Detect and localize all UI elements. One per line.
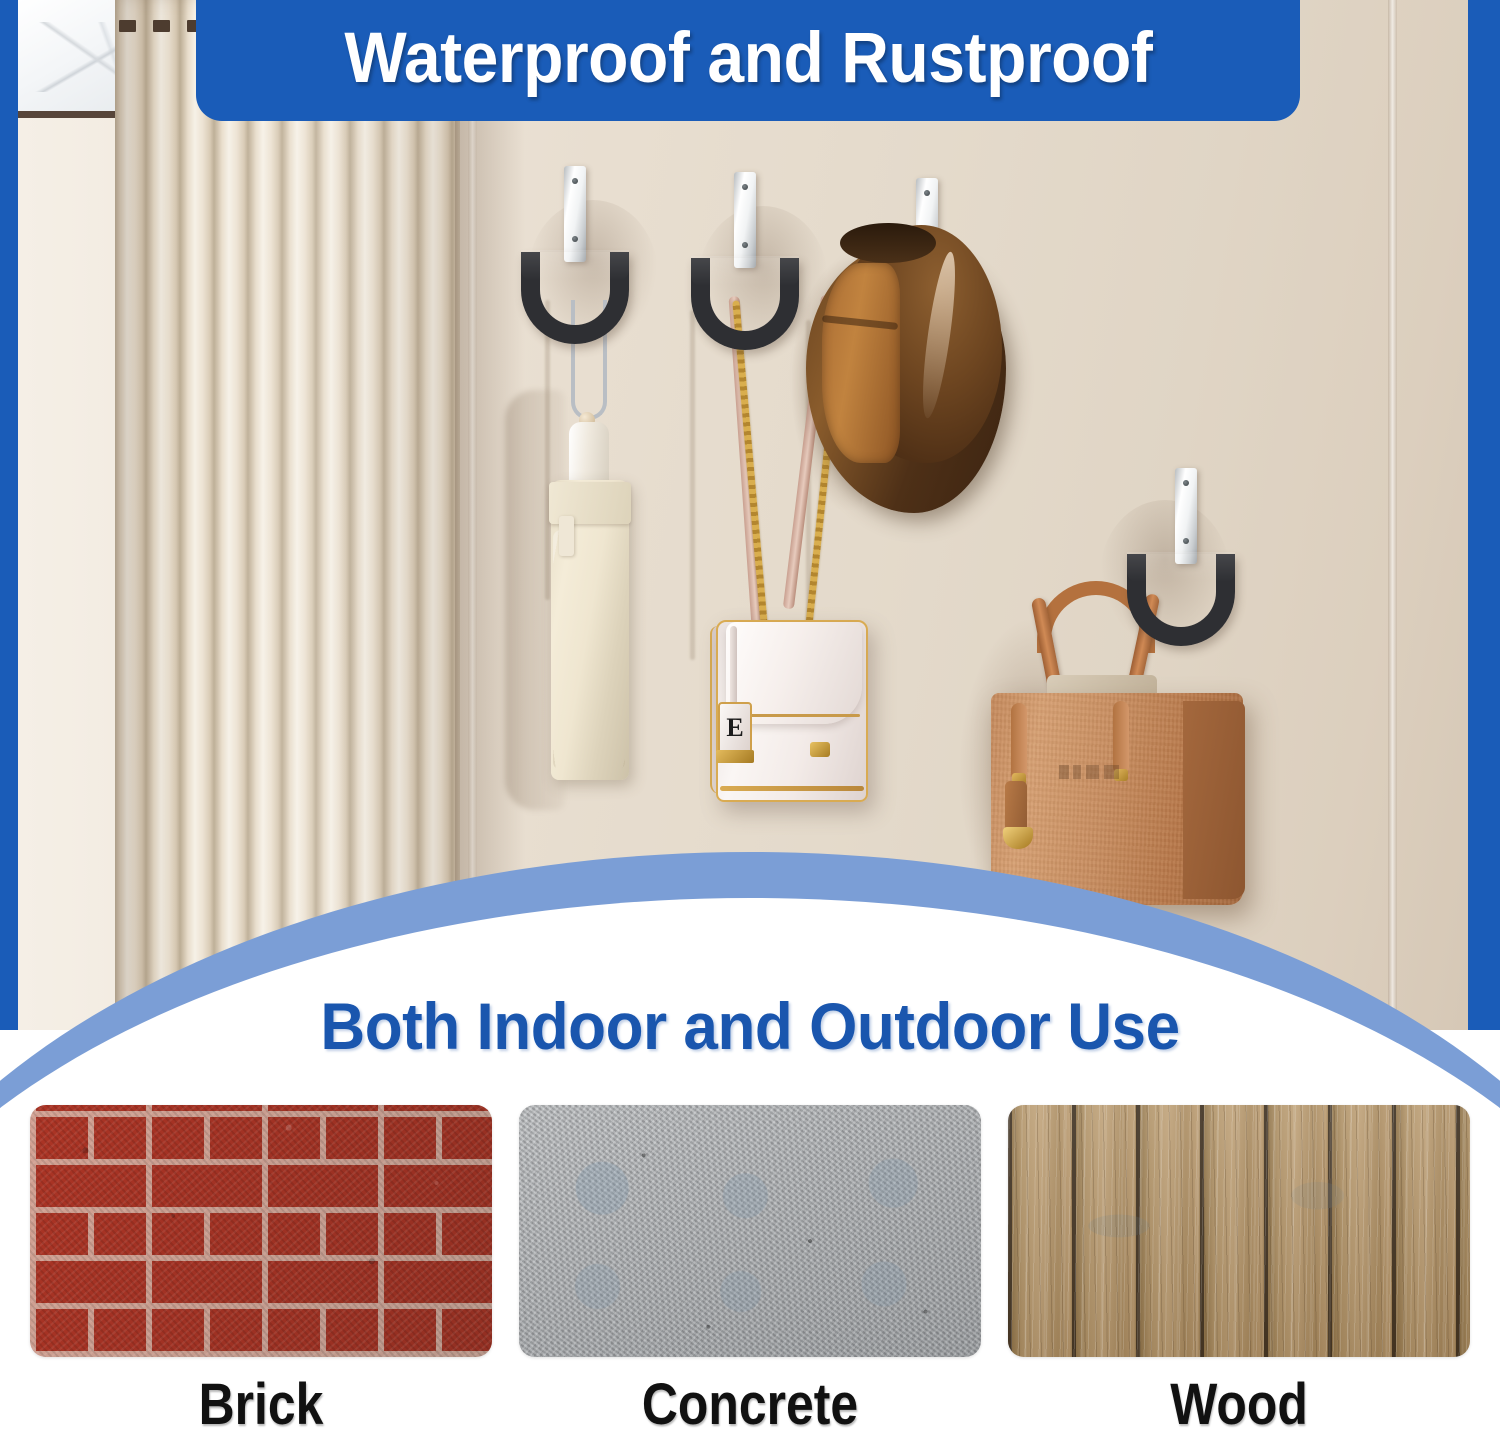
brown-fedora-hat: [800, 215, 1020, 515]
hook-mounting-plate: [734, 172, 756, 268]
material-swatch-row: Brick Concrete Wood: [0, 1105, 1500, 1445]
screw-icon: [1183, 538, 1189, 544]
concrete-swatch-image: [519, 1105, 981, 1357]
bag-bottom-trim: [720, 786, 864, 791]
section-subtitle: Both Indoor and Outdoor Use: [45, 988, 1455, 1064]
hat-band: [822, 263, 900, 463]
screw-icon: [742, 242, 748, 248]
wood-swatch-image: [1008, 1105, 1470, 1357]
concrete-label: Concrete: [551, 1371, 948, 1438]
screw-icon: [742, 184, 748, 190]
tote-strap-tab: [1011, 703, 1027, 781]
hook-u-curve: [691, 258, 799, 350]
material-card-wood: Wood: [1008, 1105, 1470, 1445]
wall-panel-seam: [1388, 0, 1397, 1030]
vertical-blinds: [115, 0, 460, 1030]
material-card-brick: Brick: [30, 1105, 492, 1445]
bag-clasp: [810, 742, 830, 757]
umbrella-velcro-tab: [559, 516, 574, 556]
charm-letter: E: [726, 715, 743, 741]
headline-banner: Waterproof and Rustproof: [196, 0, 1300, 121]
hook-mounting-plate: [1175, 468, 1197, 564]
tote-strap-tab: [1113, 701, 1129, 775]
photo-border-left: [0, 0, 18, 1030]
bag-charm-base: [716, 750, 754, 763]
brick-swatch-image: [30, 1105, 492, 1357]
wood-label: Wood: [1040, 1371, 1437, 1438]
umbrella-fabric-folds: [553, 530, 625, 770]
bag-charm-strap: [730, 626, 737, 710]
bag-letter-charm: E: [718, 702, 752, 754]
tote-logo: [1059, 765, 1129, 779]
hook-u-curve: [521, 252, 629, 344]
wall-hook-1[interactable]: [520, 166, 630, 356]
material-card-concrete: Concrete: [519, 1105, 981, 1445]
screw-icon: [572, 178, 578, 184]
wall-panel-seam: [468, 0, 477, 1030]
photo-border-right: [1468, 0, 1500, 1030]
product-feature-image: E: [0, 0, 1500, 1445]
materials-section: Both Indoor and Outdoor Use Brick Concre…: [0, 940, 1500, 1445]
screw-icon: [924, 190, 930, 196]
brick-label: Brick: [62, 1371, 459, 1438]
screw-icon: [572, 236, 578, 242]
wall-hook-4[interactable]: [1095, 468, 1205, 658]
wall-hook-2[interactable]: [690, 172, 800, 362]
folded-umbrella: [523, 300, 653, 800]
tote-side-panel: [1183, 701, 1245, 899]
hook-mounting-plate: [564, 166, 586, 262]
screw-icon: [1183, 480, 1189, 486]
banner-title: Waterproof and Rustproof: [344, 18, 1152, 99]
hat-interior: [840, 223, 936, 263]
